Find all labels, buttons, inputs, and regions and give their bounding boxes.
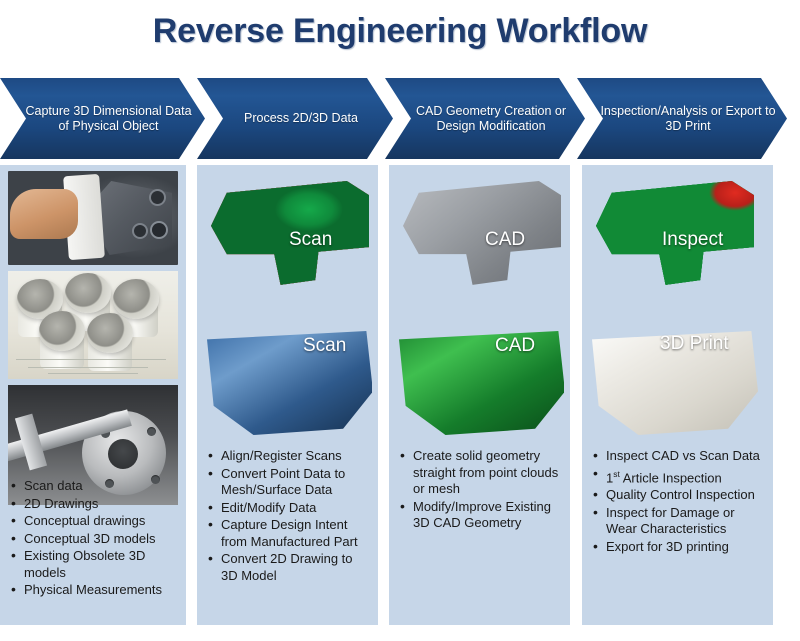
- workflow-step-arrow-3-label: CAD Geometry Creation or Design Modifica…: [385, 104, 585, 134]
- blueprint-roll-end: [39, 311, 85, 351]
- blue-scan-surface-render: Scan: [203, 323, 372, 443]
- page-title: Reverse Engineering Workflow: [0, 12, 800, 51]
- print-caption: 3D Print: [660, 333, 729, 355]
- workflow-step-arrow-4-label: Inspection/Analysis or Export to 3D Prin…: [577, 104, 787, 134]
- list-item: Align/Register Scans: [207, 448, 370, 465]
- blueprint-line: [28, 367, 148, 368]
- green-surface-shape: [399, 331, 564, 435]
- workflow-column-4: Inspect 3D Print Inspect CAD vs Scan Dat…: [582, 165, 773, 625]
- list-item: Conceptual 3D models: [10, 531, 178, 548]
- list-item: Edit/Modify Data: [207, 500, 370, 517]
- list-item: Capture Design Intent from Manufactured …: [207, 517, 370, 550]
- blue-surface-shape: [207, 331, 372, 435]
- list-item: Create solid geometry straight from poin…: [399, 448, 562, 498]
- handheld-3d-scanner-photo: [8, 171, 178, 265]
- blueprint-roll-end: [113, 279, 159, 319]
- workflow-column-1-bullets: Scan data 2D Drawings Conceptual drawing…: [0, 478, 186, 600]
- colored-scan-mesh-render: Scan: [203, 171, 372, 321]
- blueprint-line: [16, 359, 166, 360]
- list-item: 2D Drawings: [10, 496, 178, 513]
- list-item: 1st Article Inspection: [592, 466, 765, 487]
- list-item: Quality Control Inspection: [592, 487, 765, 504]
- ordinal-rest: Article Inspection: [620, 470, 722, 485]
- rolled-blueprints-photo: [8, 271, 178, 379]
- flange-bore-shape: [108, 439, 138, 469]
- workflow-step-arrow-1[interactable]: Capture 3D Dimensional Data of Physical …: [0, 78, 205, 159]
- workflow-column-3-media: CAD CAD: [389, 171, 570, 443]
- list-item: Inspect CAD vs Scan Data: [592, 448, 765, 465]
- white-3d-printed-part-photo: 3D Print: [588, 323, 767, 443]
- scanner-lens-icon: [152, 223, 166, 237]
- inspection-deviation-map-render: Inspect: [588, 171, 767, 321]
- workflow-column-4-media: Inspect 3D Print: [582, 171, 773, 443]
- workflow-column-3: CAD CAD Create solid geometry straight f…: [389, 165, 570, 625]
- workflow-column-2-media: Scan Scan: [197, 171, 378, 443]
- list-item: Inspect for Damage or Wear Characteristi…: [592, 505, 765, 538]
- blueprint-line: [48, 373, 138, 374]
- workflow-step-arrow-4[interactable]: Inspection/Analysis or Export to 3D Prin…: [577, 78, 787, 159]
- list-item: Export for 3D printing: [592, 539, 765, 556]
- list-item: Conceptual drawings: [10, 513, 178, 530]
- list-item: Scan data: [10, 478, 178, 495]
- workflow-column-3-bullets: Create solid geometry straight from poin…: [389, 448, 570, 533]
- flange-bolt-hole: [147, 427, 156, 436]
- list-item: Modify/Improve Existing 3D CAD Geometry: [399, 499, 562, 532]
- list-item: Convert 2D Drawing to 3D Model: [207, 551, 370, 584]
- blueprint-roll-end: [87, 313, 133, 353]
- workflow-arrow-band: Capture 3D Dimensional Data of Physical …: [0, 78, 800, 159]
- workflow-step-arrow-1-label: Capture 3D Dimensional Data of Physical …: [0, 104, 205, 134]
- scan-mesh-caption: Scan: [289, 229, 332, 251]
- cad-solid-shape: [403, 181, 561, 299]
- green-surface-caption: CAD: [495, 335, 535, 357]
- ordinal-suffix: st: [613, 469, 620, 479]
- list-item: Convert Point Data to Mesh/Surface Data: [207, 466, 370, 499]
- list-item: Physical Measurements: [10, 582, 178, 599]
- workflow-step-arrow-2-label: Process 2D/3D Data: [222, 111, 368, 126]
- workflow-infographic: Reverse Engineering Workflow Capture 3D …: [0, 0, 800, 641]
- workflow-column-2: Scan Scan Align/Register Scans Convert P…: [197, 165, 378, 625]
- workflow-column-1-media: [0, 171, 186, 505]
- workflow-column-1: Scan data 2D Drawings Conceptual drawing…: [0, 165, 186, 625]
- list-item: Existing Obsolete 3D models: [10, 548, 178, 581]
- workflow-step-arrow-2[interactable]: Process 2D/3D Data: [197, 78, 393, 159]
- scanner-lens-icon: [134, 225, 146, 237]
- workflow-step-arrow-3[interactable]: CAD Geometry Creation or Design Modifica…: [385, 78, 585, 159]
- blueprint-roll-end: [65, 273, 111, 313]
- workflow-column-4-bullets: Inspect CAD vs Scan Data 1st Article Ins…: [582, 448, 773, 556]
- scanner-lens-icon: [151, 191, 164, 204]
- blue-surface-caption: Scan: [303, 335, 346, 357]
- workflow-column-2-bullets: Align/Register Scans Convert Point Data …: [197, 448, 378, 585]
- gray-cad-solid-render: CAD: [395, 171, 564, 321]
- inspect-caption: Inspect: [662, 229, 723, 251]
- cad-solid-caption: CAD: [485, 229, 525, 251]
- hand-shape: [10, 189, 78, 239]
- green-cad-surface-render: CAD: [395, 323, 564, 443]
